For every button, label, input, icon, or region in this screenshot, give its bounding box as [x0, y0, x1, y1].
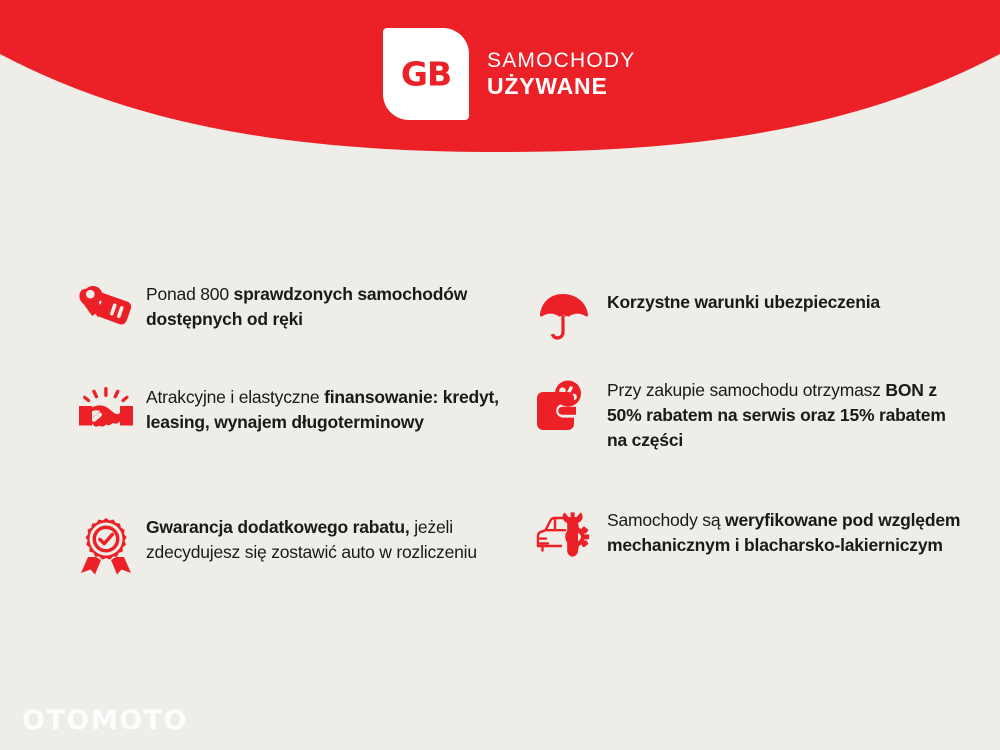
umbrella-icon: [535, 290, 607, 352]
feature-text: Korzystne warunki ubezpieczenia: [607, 290, 880, 315]
feature-item: Atrakcyjne i elastyczne finansowanie: kr…: [78, 385, 508, 447]
wallet-percent-icon: [535, 378, 607, 440]
feature-text: Samochody są weryfikowane pod względem m…: [607, 508, 965, 558]
award-rosette-icon: [78, 515, 146, 577]
feature-text: Gwarancja dodatkowego rabatu, jeżeli zde…: [146, 515, 508, 565]
promo-banner: GB SAMOCHODY UŻYWANE: [0, 0, 1000, 750]
feature-item: Przy zakupie samochodu otrzymasz BON z 5…: [535, 378, 965, 453]
feature-item: Gwarancja dodatkowego rabatu, jeżeli zde…: [78, 515, 508, 577]
car-wrench-gear-icon: [535, 508, 607, 570]
feature-item: Korzystne warunki ubezpieczenia: [535, 290, 880, 352]
car-key-icon: [78, 282, 146, 344]
feature-text: Ponad 800 sprawdzonych samochodów dostęp…: [146, 282, 508, 332]
logo-mark-text: GB: [383, 58, 469, 91]
feature-text: Atrakcyjne i elastyczne finansowanie: kr…: [146, 385, 508, 435]
otomoto-watermark: OTOMOTO: [22, 705, 188, 736]
feature-text: Przy zakupie samochodu otrzymasz BON z 5…: [607, 378, 965, 453]
handshake-icon: [78, 385, 146, 447]
logo-tile: GB: [383, 28, 469, 120]
logo-line-samochody: SAMOCHODY: [487, 50, 635, 72]
logo-wordmark: SAMOCHODY UŻYWANE: [487, 50, 635, 98]
logo-line-uzywane: UŻYWANE: [487, 74, 635, 98]
feature-item: Ponad 800 sprawdzonych samochodów dostęp…: [78, 282, 508, 344]
feature-item: Samochody są weryfikowane pod względem m…: [535, 508, 965, 570]
brand-logo: GB SAMOCHODY UŻYWANE: [383, 28, 623, 120]
